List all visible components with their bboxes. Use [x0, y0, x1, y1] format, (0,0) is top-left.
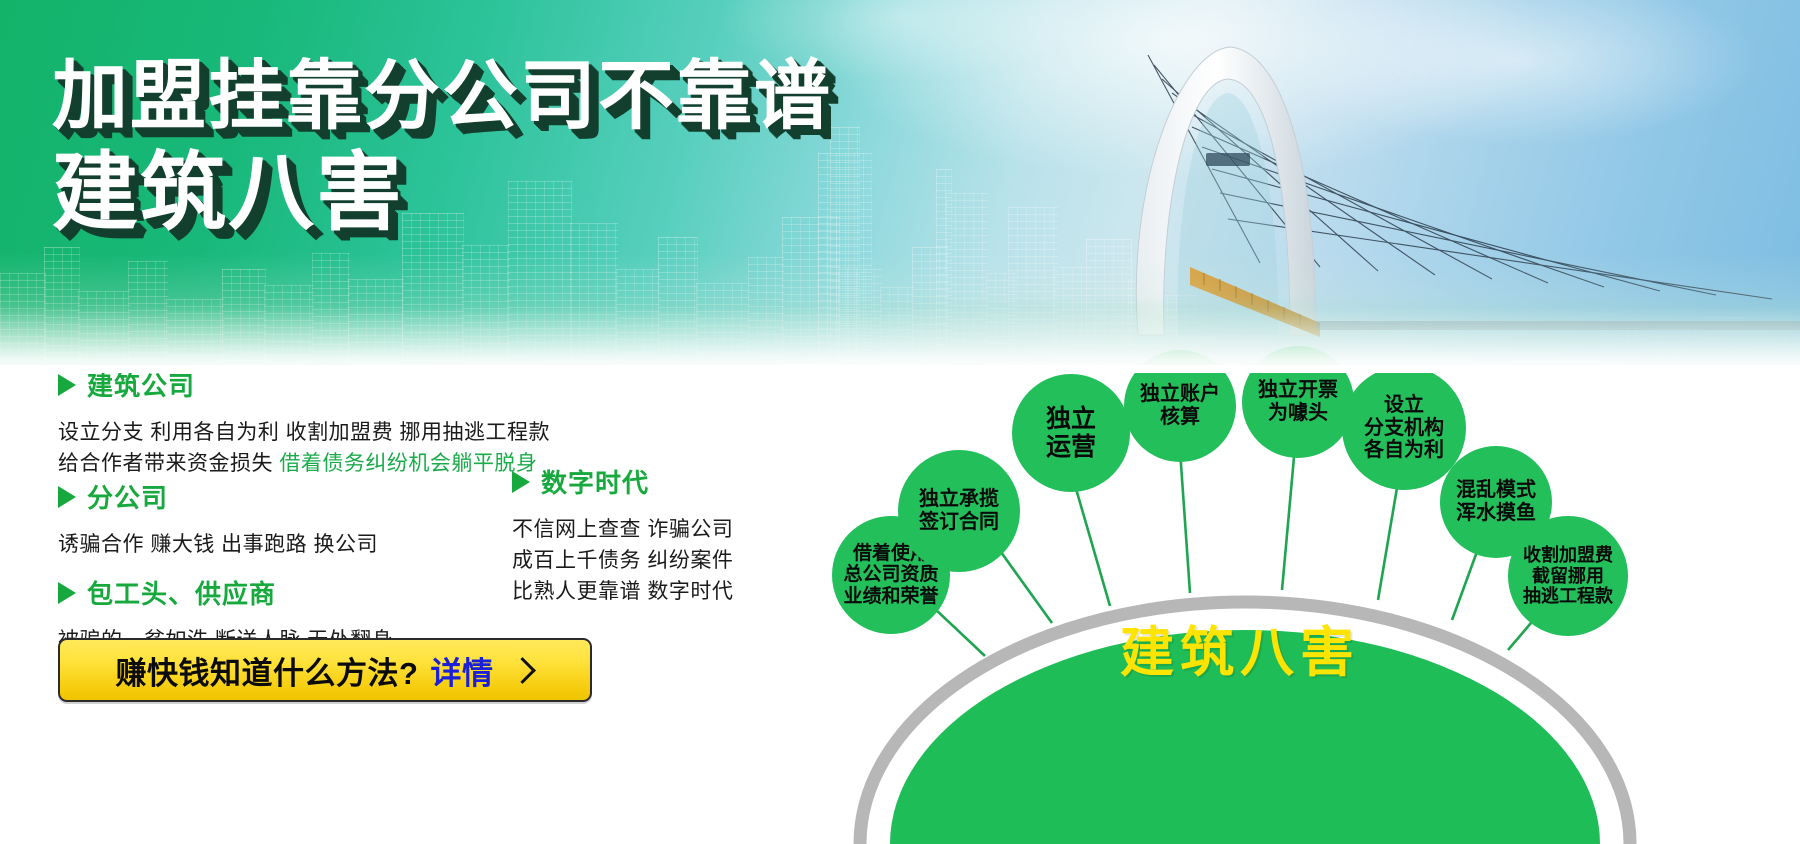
section-body: 设立分支 利用各自为利 收割加盟费 挪用抽逃工程款 给合作者带来资金损失 借着债…: [58, 417, 550, 479]
section-title: 分公司: [87, 478, 168, 515]
bubble-line: 核算: [1160, 406, 1200, 428]
section-body: 诱骗合作 赚大钱 出事跑路 换公司: [58, 529, 378, 560]
bubble-text: 独立账户 核算: [1140, 383, 1220, 429]
bubble-text: 独立承揽 签订合同: [919, 488, 999, 534]
section-body-line: 诱骗合作 赚大钱 出事跑路 换公司: [58, 529, 378, 560]
dome-label: 建筑八害: [980, 608, 1500, 687]
cta-main-label: 赚快钱知道什么方法?: [116, 648, 419, 693]
line-text: 诱骗合作 赚大钱 出事跑路 换公司: [58, 533, 378, 556]
bubble-line: 浑水摸鱼: [1456, 502, 1536, 524]
bubble-text: 收割加盟费 截留挪用 抽逃工程款: [1523, 545, 1613, 607]
line-text: 不信网上查查 诈骗公司: [512, 518, 733, 541]
page-title: 加盟挂靠分公司不靠谱 建筑八害: [52, 58, 832, 237]
bubble-text: 独立 运营: [1046, 405, 1096, 462]
triangle-bullet-icon: [58, 374, 76, 396]
bubble-line: 独立开票: [1258, 379, 1338, 401]
section-body: 不信网上查查 诈骗公司 成百上千债务 纠纷案件 比熟人更靠谱 数字时代: [512, 514, 733, 607]
line-text: 设立分支 利用各自为利 收割加盟费 挪用抽逃工程款: [58, 421, 550, 444]
bubble-line: 抽逃工程款: [1523, 586, 1613, 606]
cta-detail-link[interactable]: 详情: [430, 648, 493, 693]
line-text: 给合作者带来资金损失: [58, 452, 279, 475]
section-body-line: 比熟人更靠谱 数字时代: [512, 576, 733, 607]
section-body-line: 设立分支 利用各自为利 收割加盟费 挪用抽逃工程款: [58, 417, 550, 448]
bazhai-diagram: 建筑八害 借着使用 总公司资质 业绩和荣誉 独立承揽 签订合同 独立 运营 独立…: [790, 388, 1800, 844]
bubble-text: 独立开票 为噱头: [1258, 379, 1338, 425]
section-construction-company: 建筑公司 设立分支 利用各自为利 收割加盟费 挪用抽逃工程款 给合作者带来资金损…: [58, 366, 550, 479]
section-branch-company: 分公司 诱骗合作 赚大钱 出事跑路 换公司: [58, 478, 378, 560]
section-title: 数字时代: [541, 463, 649, 500]
section-header: 包工头、供应商: [58, 574, 393, 611]
bubble-line: 收割加盟费: [1523, 545, 1613, 565]
section-header: 分公司: [58, 478, 378, 515]
bubble-line: 截留挪用: [1532, 566, 1604, 586]
bubble-independent-operation[interactable]: 独立 运营: [1012, 374, 1130, 492]
bridge-illustration: [1120, 35, 1800, 365]
bubble-line: 独立: [1046, 405, 1096, 433]
bubble-text: 混乱模式 浑水摸鱼: [1456, 479, 1536, 525]
line-text: 比熟人更靠谱 数字时代: [512, 580, 733, 603]
page-title-line2: 建筑八害: [52, 150, 832, 238]
bubble-line: 各自为利: [1364, 439, 1444, 461]
bubble-line: 业绩和荣誉: [843, 586, 938, 607]
hero-banner: 加盟挂靠分公司不靠谱 建筑八害: [0, 0, 1800, 373]
section-body-line: 不信网上查查 诈骗公司: [512, 514, 733, 545]
cta-button[interactable]: 赚快钱知道什么方法? 详情: [58, 638, 592, 702]
bubble-harvest-franchise-fee[interactable]: 收割加盟费 截留挪用 抽逃工程款: [1508, 516, 1628, 636]
bubble-text: 设立 分支机构 各自为利: [1364, 394, 1444, 462]
bubble-line: 运营: [1046, 433, 1096, 461]
bubble-line: 为噱头: [1268, 402, 1328, 424]
left-content-column: 建筑公司 设立分支 利用各自为利 收割加盟费 挪用抽逃工程款 给合作者带来资金损…: [0, 388, 800, 844]
line-highlight: 借着债务纠纷机会躺平脱身: [279, 452, 537, 475]
chevron-right-icon: [510, 657, 537, 684]
bubble-line: 独立承揽: [919, 488, 999, 510]
bubble-line: 独立账户: [1140, 383, 1220, 405]
page-title-line1: 加盟挂靠分公司不靠谱: [52, 58, 832, 136]
bubble-line: 总公司资质: [843, 564, 938, 585]
hero-bottom-rule: [0, 365, 1800, 373]
triangle-bullet-icon: [512, 471, 530, 493]
bubble-line: 混乱模式: [1456, 479, 1536, 501]
section-header: 数字时代: [512, 463, 733, 500]
triangle-bullet-icon: [58, 582, 76, 604]
section-digital-era: 数字时代 不信网上查查 诈骗公司 成百上千债务 纠纷案件 比熟人更靠谱 数字时代: [512, 463, 733, 607]
line-text: 成百上千债务 纠纷案件: [512, 549, 733, 572]
section-body-line: 给合作者带来资金损失 借着债务纠纷机会躺平脱身: [58, 448, 550, 479]
bubble-independent-contracting[interactable]: 独立承揽 签订合同: [898, 450, 1020, 572]
bubble-set-branches[interactable]: 设立 分支机构 各自为利: [1342, 366, 1466, 490]
bubble-line: 签订合同: [919, 511, 999, 533]
section-body-line: 成百上千债务 纠纷案件: [512, 545, 733, 576]
triangle-bullet-icon: [58, 486, 76, 508]
poster-root: 加盟挂靠分公司不靠谱 建筑八害 建筑公司 设立分支 利用各自为利 收割加盟费 挪…: [0, 0, 1800, 844]
section-title: 包工头、供应商: [87, 574, 276, 611]
bubble-line: 分支机构: [1364, 417, 1444, 439]
bubble-line: 设立: [1384, 394, 1424, 416]
